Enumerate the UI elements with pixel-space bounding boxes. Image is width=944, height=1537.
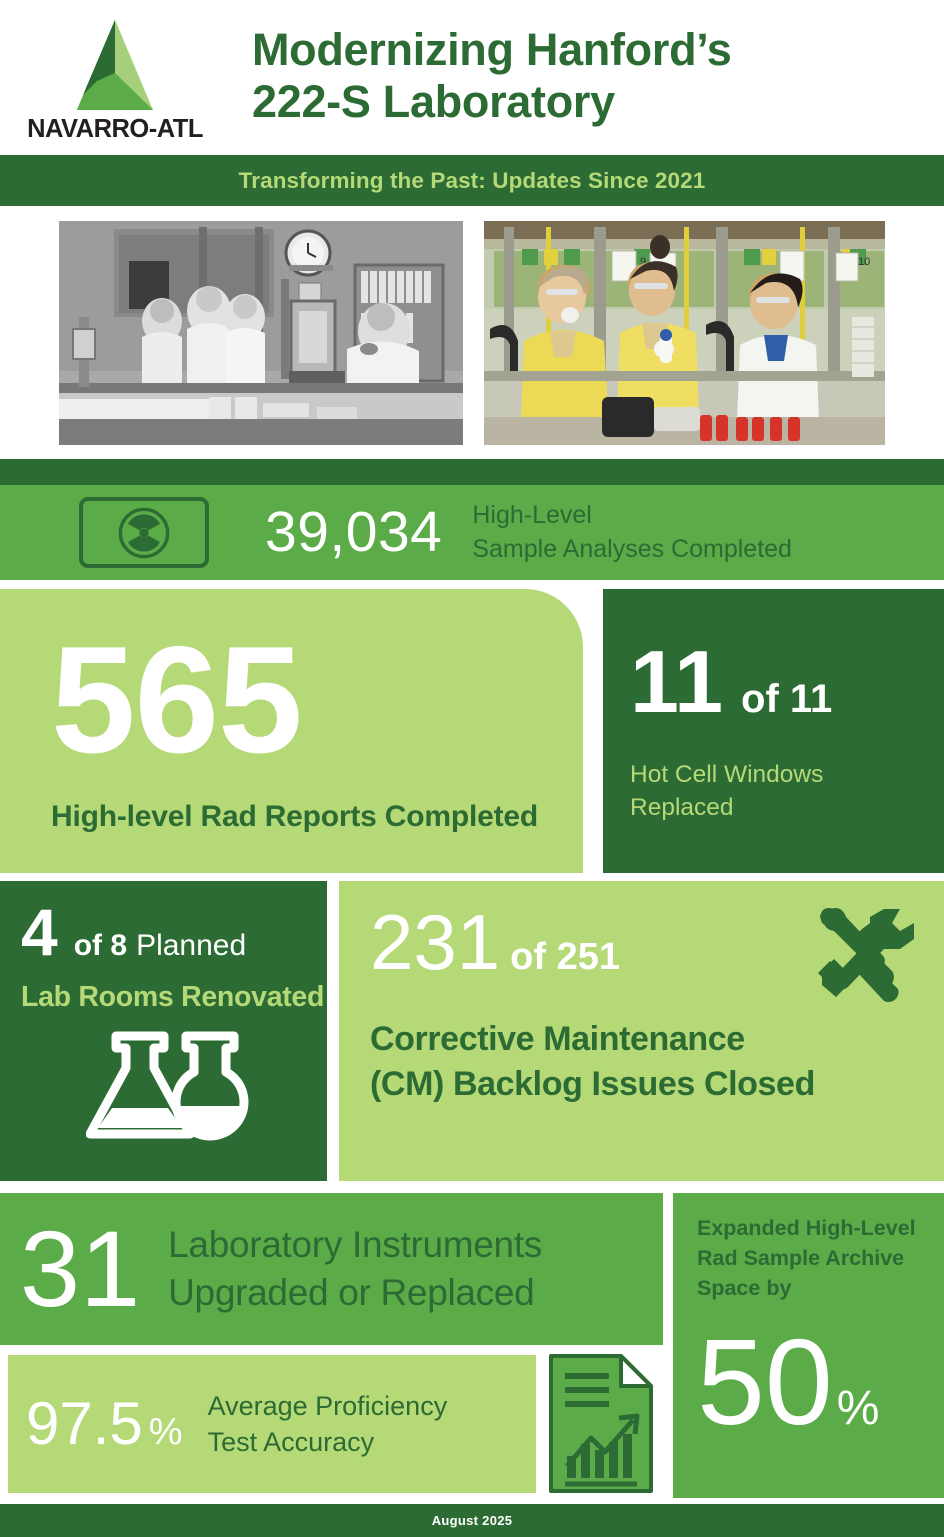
archive-label-line-2: Rad Sample Archive [697,1243,928,1273]
lab-rooms-planned-text: Planned [136,929,246,963]
flask-icon [21,1028,327,1152]
stat-rad-reports: 565 High-level Rad Reports Completed [0,589,583,873]
wrench-screwdriver-icon [814,903,918,1007]
proficiency-number: 97.5 [26,1394,143,1454]
proficiency-label: Average Proficiency Test Accuracy [208,1388,448,1461]
page-footer: August 2025 [0,1504,944,1537]
hot-cell-number: 11 [630,638,723,726]
photo-row: 9 10 [0,206,944,459]
analyses-label-line-1: High-Level [472,499,792,533]
subtitle-bar: Transforming the Past: Updates Since 202… [0,155,944,206]
hot-cell-label-line-1: Hot Cell Windows [630,758,944,791]
archive-label-line-1: Expanded High-Level [697,1213,928,1243]
instruments-label: Laboratory Instruments Upgraded or Repla… [168,1221,542,1317]
subtitle-text: Transforming the Past: Updates Since 202… [239,168,706,194]
instruments-label-line-2: Upgraded or Replaced [168,1269,542,1317]
proficiency-percent-sign: % [149,1411,183,1454]
archive-number-row: 50 % [697,1325,928,1441]
stats-row-3: 4 of 8 Planned Lab Rooms Renovated 231 o… [0,881,944,1181]
stat-corrective-maintenance: 231 of 251 Corrective Maintenance (CM) B… [339,881,944,1181]
analyses-number: 39,034 [265,504,442,561]
historic-lab-photo [59,221,463,445]
title-line-2: 222-S Laboratory [252,76,732,127]
lab-rooms-number-row: 4 of 8 Planned [21,899,327,965]
footer-date: August 2025 [432,1513,513,1528]
analyses-label-line-2: Sample Analyses Completed [472,533,792,567]
hot-cell-label: Hot Cell Windows Replaced [630,758,944,824]
cm-label-line-1: Corrective Maintenance [370,1017,944,1062]
stat-lab-rooms: 4 of 8 Planned Lab Rooms Renovated [0,881,327,1181]
hot-cell-of-text: of 11 [741,677,832,722]
archive-number: 50 [697,1325,833,1441]
cm-number: 231 [370,903,500,981]
stats-row-2: 565 High-level Rad Reports Completed 11 … [0,589,944,873]
modern-lab-photo: 9 10 [484,221,885,445]
stat-hot-cell-windows: 11 of 11 Hot Cell Windows Replaced [603,589,944,873]
rad-reports-number: 565 [51,628,583,772]
analyses-label: High-Level Sample Analyses Completed [472,499,792,566]
proficiency-label-line-1: Average Proficiency [208,1388,448,1424]
lab-rooms-number: 4 [21,899,58,965]
svg-text:10: 10 [858,256,870,268]
archive-label-line-3: Space by [697,1273,928,1303]
cm-label-line-2: (CM) Backlog Issues Closed [370,1062,944,1107]
hot-cell-label-line-2: Replaced [630,791,944,824]
page-header: NAVARRO-ATL Modernizing Hanford’s 222-S … [0,0,944,155]
radiation-icon [79,497,209,568]
title-line-1: Modernizing Hanford’s [252,24,732,75]
logo-wordmark: NAVARRO-ATL [27,115,203,144]
hot-cell-number-row: 11 of 11 [630,638,944,726]
document-chart-icon [547,1352,655,1495]
infographic-page: NAVARRO-ATL Modernizing Hanford’s 222-S … [0,0,944,1537]
archive-label: Expanded High-Level Rad Sample Archive S… [697,1213,928,1303]
stat-archive-space: Expanded High-Level Rad Sample Archive S… [673,1193,944,1498]
stat-proficiency: 97.5 % Average Proficiency Test Accuracy [8,1355,536,1493]
stat-lab-instruments: 31 Laboratory Instruments Upgraded or Re… [0,1193,663,1345]
cm-label: Corrective Maintenance (CM) Backlog Issu… [370,1017,944,1107]
lab-rooms-of-text: of 8 [74,929,127,963]
triangle-logo-icon [57,18,173,114]
page-title: Modernizing Hanford’s 222-S Laboratory [230,24,732,131]
proficiency-number-row: 97.5 % [26,1394,183,1454]
section-separator-bar [0,459,944,485]
proficiency-label-line-2: Test Accuracy [208,1424,448,1460]
instruments-label-line-1: Laboratory Instruments [168,1221,542,1269]
stat-sample-analyses: 39,034 High-Level Sample Analyses Comple… [0,485,944,580]
brand-logo: NAVARRO-ATL [0,3,230,153]
archive-percent-sign: % [837,1381,880,1436]
cm-of-text: of 251 [510,936,620,979]
rad-reports-label: High-level Rad Reports Completed [51,800,583,834]
instruments-number: 31 [20,1220,140,1317]
lab-rooms-label: Lab Rooms Renovated [21,981,327,1014]
